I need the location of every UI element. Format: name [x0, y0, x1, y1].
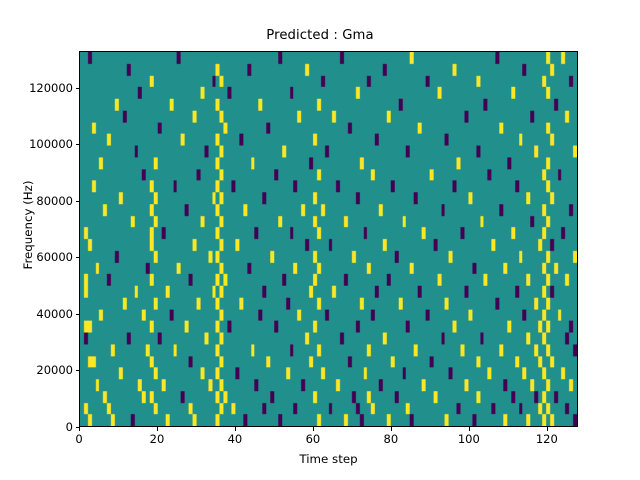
y-tick-label: 20000	[7, 363, 73, 377]
heatmap-image	[80, 52, 577, 426]
matplotlib-figure: Predicted : Gma 020406080100120 02000040…	[0, 0, 640, 480]
y-tick-mark	[76, 144, 80, 145]
x-tick-mark	[469, 427, 470, 431]
x-tick-label: 60	[283, 432, 343, 446]
x-tick-mark	[235, 427, 236, 431]
x-tick-label: 40	[205, 432, 265, 446]
x-tick-label: 100	[439, 432, 499, 446]
x-tick-label: 0	[49, 432, 109, 446]
x-tick-mark	[157, 427, 158, 431]
x-axis-label: Time step	[79, 452, 578, 466]
x-tick-label: 80	[361, 432, 421, 446]
y-axis-label: Frequency (Hz)	[21, 105, 35, 345]
y-tick-label: 80000	[7, 194, 73, 208]
y-tick-mark	[76, 370, 80, 371]
y-tick-label: 40000	[7, 307, 73, 321]
x-tick-mark	[547, 427, 548, 431]
y-tick-label: 120000	[7, 81, 73, 95]
x-tick-mark	[391, 427, 392, 431]
y-tick-label: 0	[7, 420, 73, 434]
x-tick-label: 120	[517, 432, 577, 446]
heatmap-axes	[79, 51, 578, 427]
y-tick-mark	[76, 427, 80, 428]
y-tick-label: 60000	[7, 250, 73, 264]
y-tick-mark	[76, 201, 80, 202]
y-tick-mark	[76, 257, 80, 258]
y-tick-mark	[76, 314, 80, 315]
x-tick-mark	[79, 427, 80, 431]
y-tick-label: 100000	[7, 137, 73, 151]
chart-title: Predicted : Gma	[0, 28, 640, 43]
y-tick-mark	[76, 88, 80, 89]
x-tick-label: 20	[127, 432, 187, 446]
x-tick-mark	[313, 427, 314, 431]
